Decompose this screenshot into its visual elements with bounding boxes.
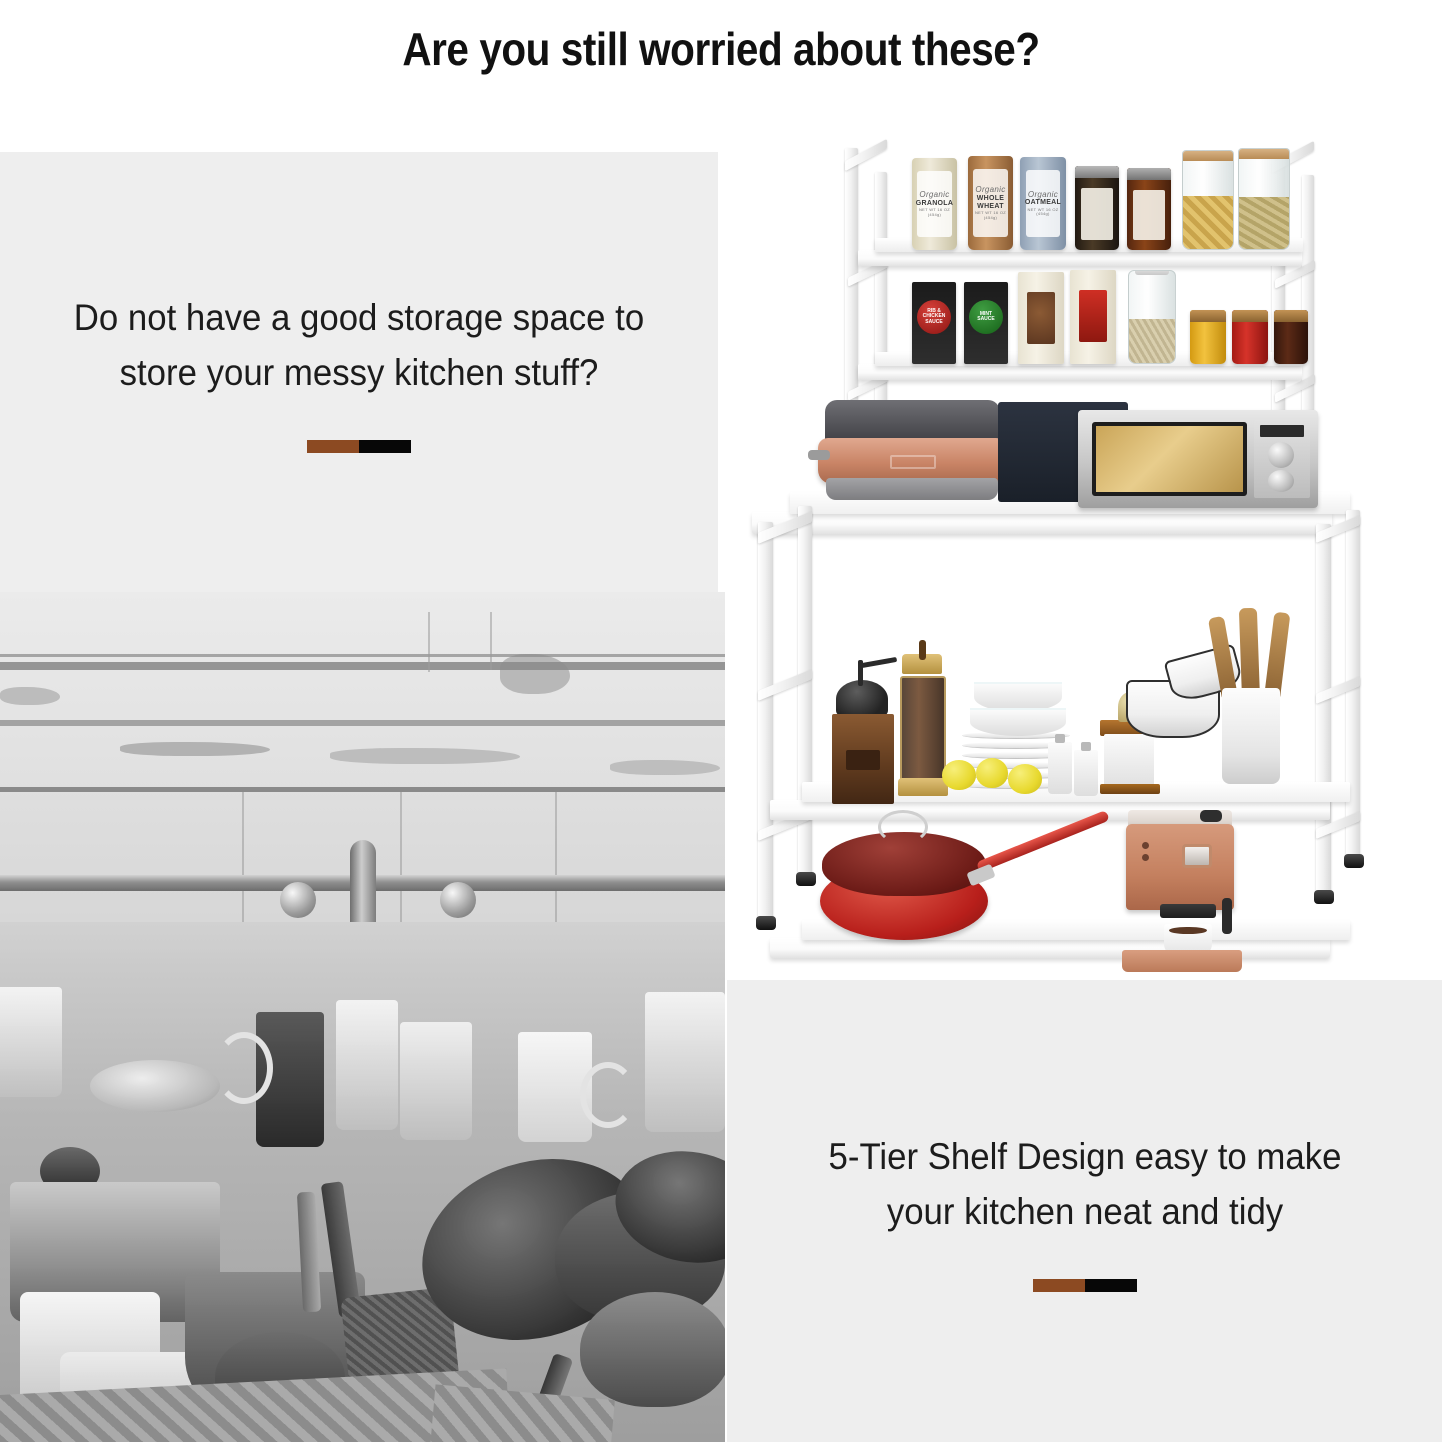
- shelf-board-tier-5: [770, 938, 1330, 958]
- soap-dispenser-right: [1074, 750, 1098, 796]
- canister-script-label: Organic: [919, 190, 949, 200]
- page-title: Are you still worried about these?: [87, 22, 1356, 76]
- shelf-board-worktop: [752, 512, 1332, 534]
- solution-statement-text: 5-Tier Shelf Design easy to make your ki…: [793, 1130, 1376, 1240]
- solution-divider: [1033, 1279, 1137, 1292]
- problem-statement-text: Do not have a good storage space to stor…: [58, 291, 660, 401]
- divider-black-segment: [1085, 1279, 1137, 1292]
- pan-lid-handle: [878, 810, 928, 844]
- spice-jar-yellow: [1190, 310, 1226, 364]
- packet-rib-chicken-badge: RIB & CHICKEN SAUCE: [917, 300, 951, 334]
- canister-script-label: Organic: [1028, 190, 1058, 200]
- canister-oatmeal: Organic OATMEAL NET WT 16 OZ (454g): [1020, 157, 1066, 250]
- canister-granola-sublabel: NET WT 16 OZ (454g): [917, 208, 951, 218]
- food-box-flour: [1070, 270, 1116, 364]
- glass-jar-grains: [1238, 148, 1290, 250]
- canister-whole-wheat-sublabel: NET WT 16 OZ (454g): [973, 211, 1007, 221]
- canister-oatmeal-sublabel: NET WT 16 OZ (454g): [1026, 208, 1061, 218]
- shelf-leg-front-left: [758, 522, 773, 922]
- glass-jar-pasta: [1182, 150, 1234, 250]
- microwave-door: [1092, 422, 1247, 496]
- divider-black-segment: [359, 440, 411, 453]
- shelf-board-tier-2: [858, 364, 1302, 380]
- microwave-knob-lower[interactable]: [1268, 470, 1294, 492]
- lemon: [976, 758, 1008, 788]
- packet-mint-sauce: MINT SAUCE: [964, 282, 1008, 364]
- jar-amber-preserve: [1127, 168, 1171, 250]
- canister-granola: Organic GRANOLA NET WT 16 OZ (454g): [912, 158, 957, 250]
- packet-mint-badge: MINT SAUCE: [969, 300, 1003, 334]
- shelf-product-photo: Organic GRANOLA NET WT 16 OZ (454g) Orga…: [730, 120, 1442, 980]
- food-box-cocoa: [1018, 272, 1064, 364]
- shelf-foot: [1344, 854, 1364, 868]
- soap-dispenser-left: [1048, 742, 1072, 794]
- product-infographic: Are you still worried about these? Do no…: [0, 0, 1442, 1442]
- spice-jar-red: [1232, 310, 1268, 364]
- canister-whole-wheat-label: WHOLE WHEAT: [973, 195, 1007, 212]
- wooden-spatula: [1239, 608, 1260, 699]
- canister-script-label: Organic: [975, 185, 1005, 195]
- canister-whole-wheat: Organic WHOLE WHEAT NET WT 16 OZ (454g): [968, 156, 1013, 250]
- bowl-lower: [970, 708, 1066, 736]
- messy-kitchen-photo: [0, 592, 725, 1442]
- packet-rib-chicken-sauce: RIB & CHICKEN SAUCE: [912, 282, 956, 364]
- jar-dark-preserve: [1075, 166, 1119, 250]
- shelf-foot: [1314, 890, 1334, 904]
- shelf-foot: [796, 872, 816, 886]
- spice-jar-dark: [1274, 310, 1308, 364]
- shelf-leg-front-right: [1316, 524, 1331, 896]
- divider-brown-segment: [1033, 1279, 1085, 1292]
- shelf-foot: [756, 916, 776, 930]
- shelf-board-tier-1: [858, 250, 1302, 266]
- problem-divider: [307, 440, 411, 453]
- solution-statement-panel: 5-Tier Shelf Design easy to make your ki…: [727, 980, 1442, 1442]
- microwave-knob-upper[interactable]: [1268, 442, 1294, 468]
- divider-brown-segment: [307, 440, 359, 453]
- lemon: [1008, 764, 1042, 794]
- problem-statement-panel: Do not have a good storage space to stor…: [0, 152, 718, 592]
- glass-jar-clear: [1128, 270, 1176, 364]
- microwave-display: [1260, 425, 1304, 437]
- lemon: [942, 760, 976, 790]
- utensil-crock: [1222, 688, 1280, 784]
- wooden-spatula: [1264, 612, 1290, 699]
